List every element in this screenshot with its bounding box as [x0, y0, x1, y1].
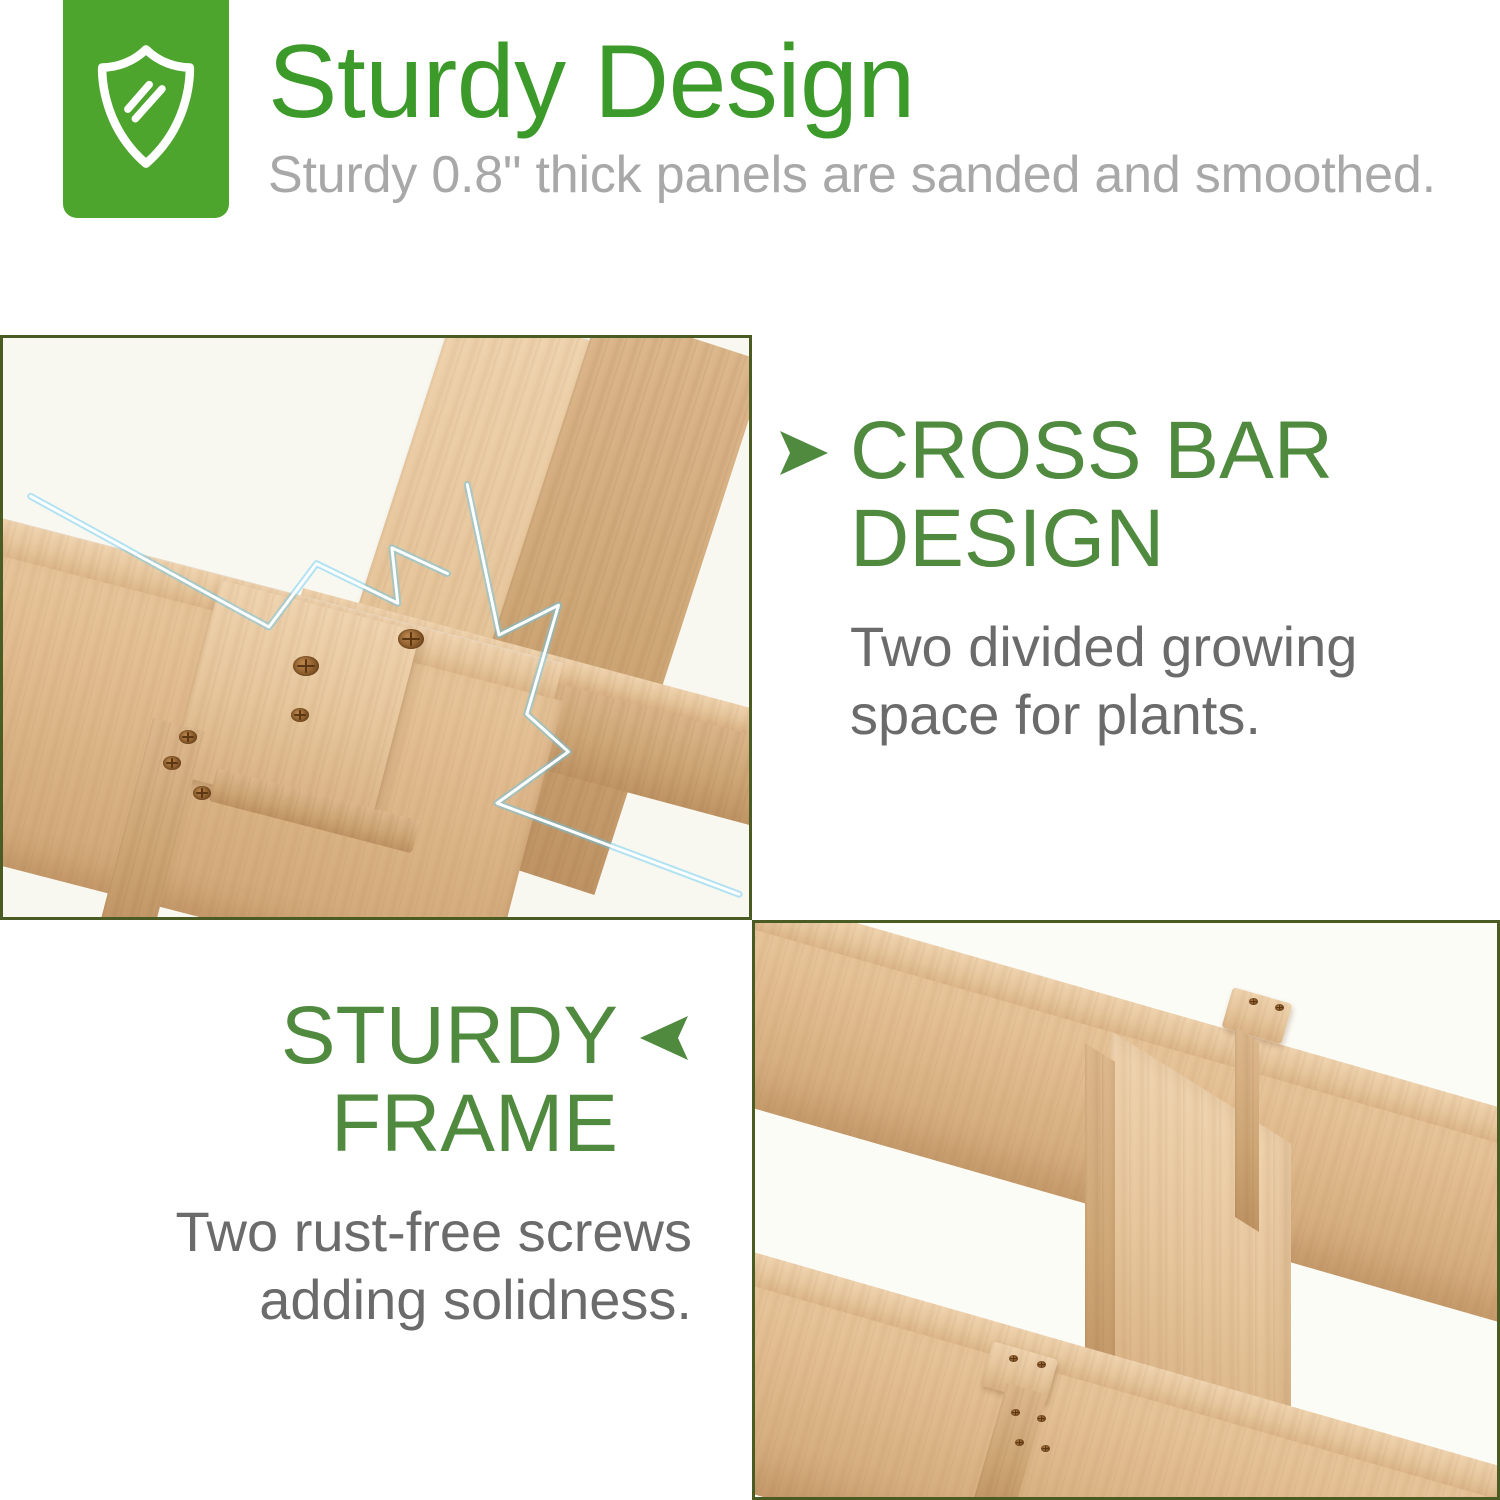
cross-bar-heading-row: CROSS BAR DESIGN: [776, 407, 1424, 583]
header-text-block: Sturdy Design Sturdy 0.8" thick panels a…: [268, 26, 1488, 206]
arrow-left-icon: [636, 1010, 692, 1066]
garden-bed-frame-photo: [752, 920, 1500, 1500]
shield-icon: [92, 44, 200, 170]
cell-frame-divider: [752, 920, 1500, 1500]
highlight-zigzag-icon: [3, 338, 749, 917]
arrow-right-icon: [776, 425, 832, 481]
cell-sturdy-frame-text: STURDY FRAME Two rust-free screws adding…: [0, 920, 752, 1500]
page-subtitle: Sturdy 0.8" thick panels are sanded and …: [268, 144, 1488, 206]
sturdy-frame-heading-row: STURDY FRAME: [40, 992, 692, 1168]
feature-grid: CROSS BAR DESIGN Two divided growing spa…: [0, 335, 1500, 1500]
sturdy-frame-text-panel: STURDY FRAME Two rust-free screws adding…: [0, 920, 752, 1500]
bracket-lower-screw-3: [1011, 1409, 1020, 1416]
page-title: Sturdy Design: [268, 26, 1488, 138]
bracket-lower-screw-5: [1015, 1439, 1024, 1446]
sturdy-frame-title: STURDY FRAME: [40, 992, 618, 1168]
cross-bar-text-panel: CROSS BAR DESIGN Two divided growing spa…: [752, 335, 1500, 920]
sturdy-frame-body: Two rust-free screws adding solidness.: [40, 1198, 692, 1334]
bracket-upper-post: [1235, 1027, 1259, 1232]
bracket-upper-screw-2: [1275, 1004, 1284, 1011]
cross-bar-body: Two divided growing space for plants.: [776, 613, 1424, 749]
wooden-corner-joint-photo: [0, 335, 752, 920]
bracket-lower-screw-1: [1009, 1355, 1018, 1362]
cell-corner-joint: [0, 335, 752, 920]
bracket-lower-screw-6: [1041, 1445, 1050, 1452]
cross-bar-title: CROSS BAR DESIGN: [850, 407, 1424, 583]
bracket-lower-screw-2: [1037, 1361, 1046, 1368]
shield-badge: [63, 0, 229, 218]
bracket-upper-screw-1: [1249, 998, 1258, 1005]
cell-cross-bar-text: CROSS BAR DESIGN Two divided growing spa…: [752, 335, 1500, 920]
header-banner: Sturdy Design Sturdy 0.8" thick panels a…: [0, 0, 1500, 335]
bracket-lower-screw-4: [1037, 1415, 1046, 1422]
